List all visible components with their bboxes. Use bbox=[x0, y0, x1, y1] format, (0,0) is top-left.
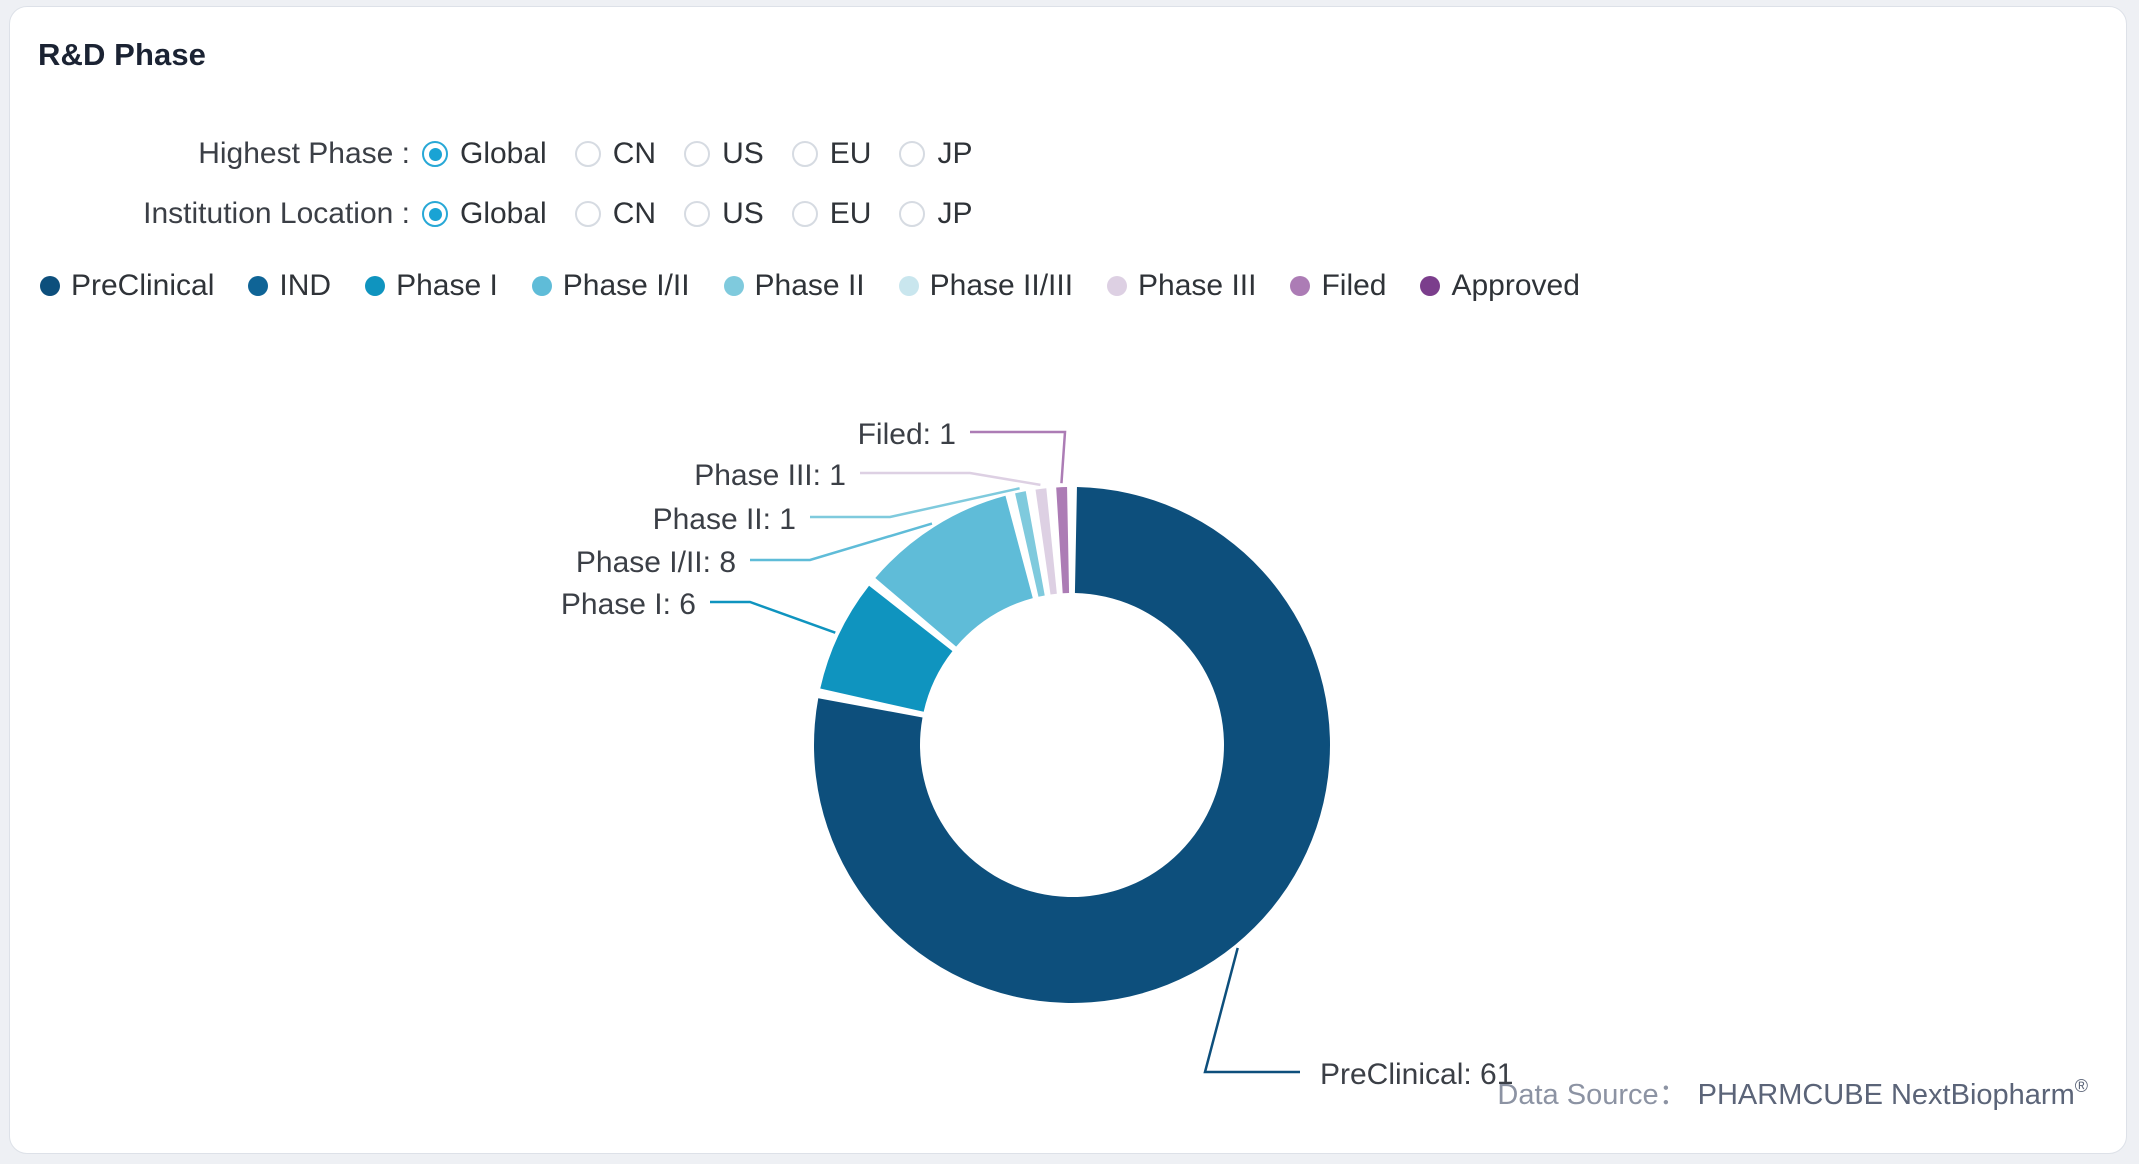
legend-item-approved[interactable]: Approved bbox=[1420, 269, 1579, 303]
radio-institution-location-us[interactable]: US bbox=[684, 197, 764, 231]
legend-color-dot-icon bbox=[1420, 276, 1440, 296]
radio-button-icon[interactable] bbox=[899, 141, 925, 167]
legend-item-filed[interactable]: Filed bbox=[1290, 269, 1386, 303]
radio-label: US bbox=[722, 137, 764, 171]
registered-trademark-icon: ® bbox=[2075, 1076, 2088, 1097]
legend-label: Filed bbox=[1321, 269, 1386, 303]
radio-button-icon[interactable] bbox=[422, 141, 448, 167]
radio-highest-phase-eu[interactable]: EU bbox=[792, 137, 872, 171]
slice-leader-line bbox=[1205, 948, 1300, 1072]
radio-button-icon[interactable] bbox=[899, 201, 925, 227]
radio-button-icon[interactable] bbox=[575, 141, 601, 167]
slice-label: Phase I: 6 bbox=[561, 588, 696, 621]
radio-label: JP bbox=[937, 197, 972, 231]
legend-color-dot-icon bbox=[532, 276, 552, 296]
legend-label: PreClinical bbox=[71, 269, 214, 303]
legend-label: IND bbox=[279, 269, 331, 303]
radio-highest-phase-global[interactable]: Global bbox=[422, 137, 547, 171]
slice-label: Phase III: 1 bbox=[694, 459, 846, 492]
slice-leader-line bbox=[710, 602, 835, 633]
radio-label: EU bbox=[830, 137, 872, 171]
radio-button-icon[interactable] bbox=[792, 201, 818, 227]
legend-label: Phase II/III bbox=[930, 269, 1073, 303]
legend-label: Phase I bbox=[396, 269, 498, 303]
radio-label: US bbox=[722, 197, 764, 231]
radio-button-icon[interactable] bbox=[792, 141, 818, 167]
radio-institution-location-global[interactable]: Global bbox=[422, 197, 547, 231]
radio-institution-location-jp[interactable]: JP bbox=[899, 197, 972, 231]
legend-item-ind[interactable]: IND bbox=[248, 269, 331, 303]
radio-label: EU bbox=[830, 197, 872, 231]
radio-label: JP bbox=[937, 137, 972, 171]
donut-chart-container: PreClinical: 61Phase I: 6Phase I/II: 8Ph… bbox=[10, 407, 2128, 1107]
legend-item-phase-ii[interactable]: Phase II bbox=[724, 269, 865, 303]
slice-label: Phase I/II: 8 bbox=[576, 546, 736, 579]
legend-item-phase-ii-iii[interactable]: Phase II/III bbox=[899, 269, 1073, 303]
slice-label: PreClinical: 61 bbox=[1320, 1058, 1513, 1091]
legend-label: Phase II bbox=[755, 269, 865, 303]
slice-label: Filed: 1 bbox=[858, 418, 956, 451]
rd-phase-card: R&D Phase Highest Phase :GlobalCNUSEUJPI… bbox=[9, 6, 2127, 1154]
legend-color-dot-icon bbox=[40, 276, 60, 296]
radio-highest-phase-cn[interactable]: CN bbox=[575, 137, 656, 171]
data-source-name: PHARMCUBE NextBiopharm bbox=[1698, 1079, 2075, 1112]
filter-row-highest-phase: Highest Phase :GlobalCNUSEUJP bbox=[10, 132, 1000, 176]
filter-label-highest-phase: Highest Phase : bbox=[10, 137, 422, 171]
radio-button-icon[interactable] bbox=[422, 201, 448, 227]
chart-legend: PreClinicalINDPhase IPhase I/IIPhase IIP… bbox=[40, 269, 1614, 303]
legend-color-dot-icon bbox=[1107, 276, 1127, 296]
radio-label: CN bbox=[613, 137, 656, 171]
legend-color-dot-icon bbox=[899, 276, 919, 296]
legend-item-phase-iii[interactable]: Phase III bbox=[1107, 269, 1256, 303]
radio-highest-phase-us[interactable]: US bbox=[684, 137, 764, 171]
radio-button-icon[interactable] bbox=[684, 201, 710, 227]
data-source-prefix: Data Source： bbox=[1497, 1071, 1687, 1113]
legend-color-dot-icon bbox=[248, 276, 268, 296]
radio-button-icon[interactable] bbox=[575, 201, 601, 227]
dashboard-root: R&D Phase Highest Phase :GlobalCNUSEUJPI… bbox=[0, 0, 2139, 1164]
data-source-footer: Data Source： PHARMCUBE NextBiopharm ® bbox=[1497, 1071, 2088, 1113]
legend-color-dot-icon bbox=[1290, 276, 1310, 296]
filter-label-institution-location: Institution Location : bbox=[10, 197, 422, 231]
radio-label: Global bbox=[460, 197, 547, 231]
filter-row-institution-location: Institution Location :GlobalCNUSEUJP bbox=[10, 192, 1000, 236]
radio-label: CN bbox=[613, 197, 656, 231]
radio-institution-location-cn[interactable]: CN bbox=[575, 197, 656, 231]
legend-item-phase-i-ii[interactable]: Phase I/II bbox=[532, 269, 690, 303]
radio-highest-phase-jp[interactable]: JP bbox=[899, 137, 972, 171]
slice-leader-line bbox=[860, 473, 1040, 485]
donut-slice[interactable] bbox=[1056, 487, 1069, 593]
legend-label: Phase I/II bbox=[563, 269, 690, 303]
legend-item-preclinical[interactable]: PreClinical bbox=[40, 269, 214, 303]
radio-button-icon[interactable] bbox=[684, 141, 710, 167]
legend-color-dot-icon bbox=[724, 276, 744, 296]
radio-label: Global bbox=[460, 137, 547, 171]
slice-label: Phase II: 1 bbox=[653, 503, 796, 536]
donut-chart[interactable]: PreClinical: 61Phase I: 6Phase I/II: 8Ph… bbox=[10, 407, 2128, 1164]
legend-label: Approved bbox=[1451, 269, 1579, 303]
legend-color-dot-icon bbox=[365, 276, 385, 296]
legend-label: Phase III bbox=[1138, 269, 1256, 303]
radio-institution-location-eu[interactable]: EU bbox=[792, 197, 872, 231]
page-title: R&D Phase bbox=[38, 37, 206, 73]
legend-item-phase-i[interactable]: Phase I bbox=[365, 269, 498, 303]
